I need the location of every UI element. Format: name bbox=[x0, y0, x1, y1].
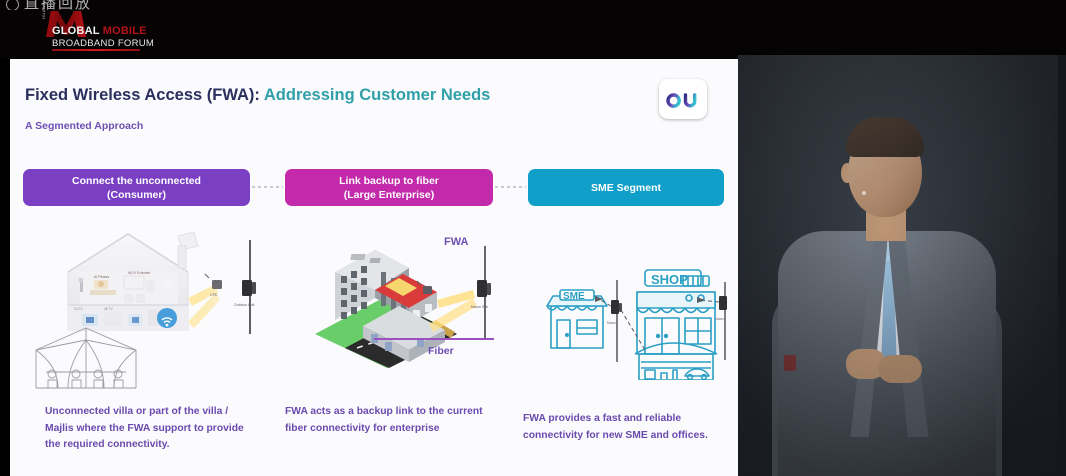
play-circle-icon bbox=[6, 0, 19, 10]
svg-text:Macro: Macro bbox=[715, 317, 725, 321]
logo-line-2: BROADBAND FORUM bbox=[52, 38, 154, 49]
du-wordmark-icon bbox=[659, 79, 707, 119]
shop-sign-text: SHOP bbox=[651, 272, 688, 287]
banner-connector-1 bbox=[252, 186, 283, 188]
speaker-video-pane bbox=[738, 55, 1066, 476]
label-fiber: Fiber bbox=[428, 345, 454, 357]
svg-text:4K TV: 4K TV bbox=[104, 307, 114, 311]
broadcast-header-band: 直播回放 HUAWEI GLOBAL MOBILE BROADBAND FORU… bbox=[0, 0, 1066, 58]
overlay-caption-strip: 直播回放 bbox=[6, 0, 156, 10]
banner-line-1: Link backup to fiber bbox=[339, 174, 439, 188]
fiber-line-graphic bbox=[374, 338, 494, 340]
sme-illustration-svg: Macro Macro SME SHOP bbox=[533, 240, 733, 380]
banner-line-1: SME Segment bbox=[591, 181, 661, 195]
video-vignette bbox=[738, 55, 1066, 476]
logo-underline bbox=[52, 49, 140, 51]
slide-title-secondary: Addressing Customer Needs bbox=[264, 86, 490, 104]
banner-connector-2 bbox=[495, 186, 526, 188]
overlay-caption-text: 直播回放 bbox=[24, 0, 92, 10]
svg-text:AI Fitness: AI Fitness bbox=[94, 275, 109, 279]
banner-line-2: (Consumer) bbox=[107, 188, 166, 202]
slide-title: Fixed Wireless Access (FWA): Addressing … bbox=[25, 86, 490, 105]
svg-text:Macro Site: Macro Site bbox=[471, 305, 488, 309]
banner-line-1: Connect the unconnected bbox=[72, 174, 201, 188]
svg-text:CPE: CPE bbox=[210, 293, 218, 297]
du-brand-logo bbox=[659, 79, 707, 119]
segment-caption-sme: FWA provides a fast and reliable connect… bbox=[523, 411, 713, 444]
illustration-consumer-villa: AI Fitness Wi-Fi Extender CCTV 4K TV CPE… bbox=[28, 222, 273, 392]
segment-caption-large-enterprise: FWA acts as a backup link to the current… bbox=[285, 404, 497, 437]
segment-caption-consumer: Unconnected villa or part of the villa /… bbox=[45, 404, 245, 454]
svg-text:Outdoor Unit: Outdoor Unit bbox=[234, 303, 254, 307]
logo-vertical-text: HUAWEI bbox=[41, 0, 46, 19]
svg-text:CCTV: CCTV bbox=[74, 307, 84, 311]
svg-text:Wi-Fi Extender: Wi-Fi Extender bbox=[128, 271, 151, 275]
segment-banner-sme[interactable]: SME Segment bbox=[528, 169, 724, 206]
logo-line-1: GLOBAL MOBILE bbox=[52, 25, 147, 37]
segment-banner-consumer[interactable]: Connect the unconnected (Consumer) bbox=[23, 169, 250, 206]
banner-line-2: (Large Enterprise) bbox=[344, 188, 434, 202]
logo-word-global: GLOBAL bbox=[52, 25, 99, 37]
slide-subtitle: A Segmented Approach bbox=[25, 120, 143, 132]
svg-text:Macro: Macro bbox=[607, 321, 617, 325]
illustration-enterprise-building: Macro Site bbox=[305, 228, 520, 368]
du-wordmark-svg bbox=[666, 88, 700, 110]
villa-illustration-svg: AI Fitness Wi-Fi Extender CCTV 4K TV CPE… bbox=[28, 222, 273, 392]
slide-title-primary: Fixed Wireless Access (FWA): bbox=[25, 86, 260, 104]
label-fwa: FWA bbox=[444, 236, 468, 248]
segment-banner-large-enterprise[interactable]: Link backup to fiber (Large Enterprise) bbox=[285, 169, 493, 206]
sme-sign-text: SME bbox=[563, 291, 585, 302]
global-mobile-broadband-forum-logo: HUAWEI GLOBAL MOBILE BROADBAND FORUM bbox=[38, 11, 142, 51]
illustration-sme-shops: Macro Macro SME SHOP bbox=[533, 240, 733, 380]
building-illustration-svg: Macro Site bbox=[305, 228, 520, 368]
video-right-edge bbox=[1058, 55, 1066, 476]
screen-root: 直播回放 HUAWEI GLOBAL MOBILE BROADBAND FORU… bbox=[0, 0, 1066, 476]
logo-word-mobile: MOBILE bbox=[103, 25, 147, 37]
